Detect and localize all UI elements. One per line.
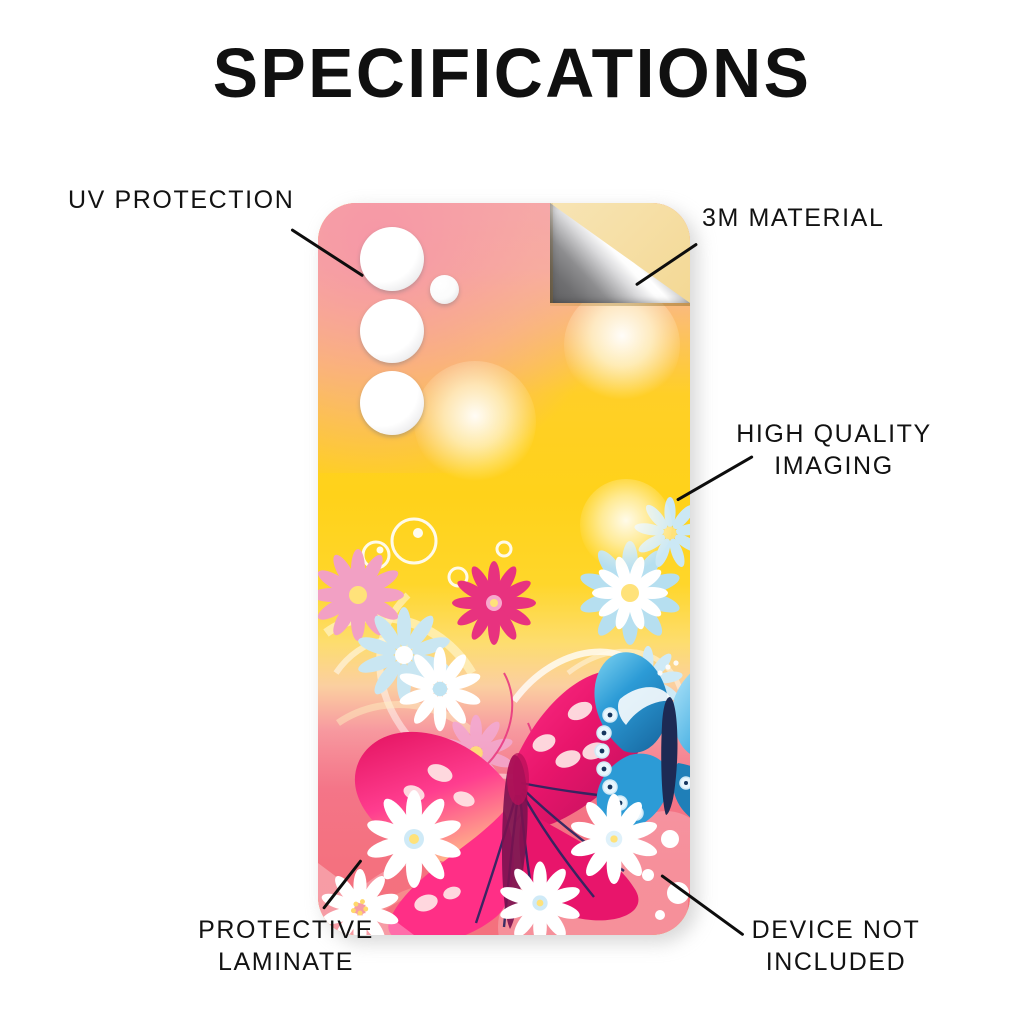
infographic-canvas: SPECIFICATIONS (0, 0, 1024, 1024)
camera-cutout-2 (360, 299, 424, 363)
camera-cutout-3 (360, 371, 424, 435)
flower-magenta (452, 561, 536, 645)
phone-body (318, 203, 690, 935)
peel-base-line (550, 303, 690, 306)
peel-fold-line (550, 203, 553, 303)
flash-cutout (430, 275, 459, 304)
phone-skin-mockup (318, 203, 692, 937)
callout-uv-protection: UV PROTECTION (68, 184, 388, 216)
page-title: SPECIFICATIONS (15, 38, 1008, 108)
callout-3m-material: 3M MATERIAL (702, 202, 1002, 234)
camera-cutout-1 (360, 227, 424, 291)
callout-high-quality-imaging: HIGH QUALITY IMAGING (700, 418, 968, 482)
peeled-corner (550, 203, 690, 303)
callout-protective-laminate: PROTECTIVE LAMINATE (126, 914, 446, 978)
callout-device-not-included: DEVICE NOT INCLUDED (686, 914, 986, 978)
